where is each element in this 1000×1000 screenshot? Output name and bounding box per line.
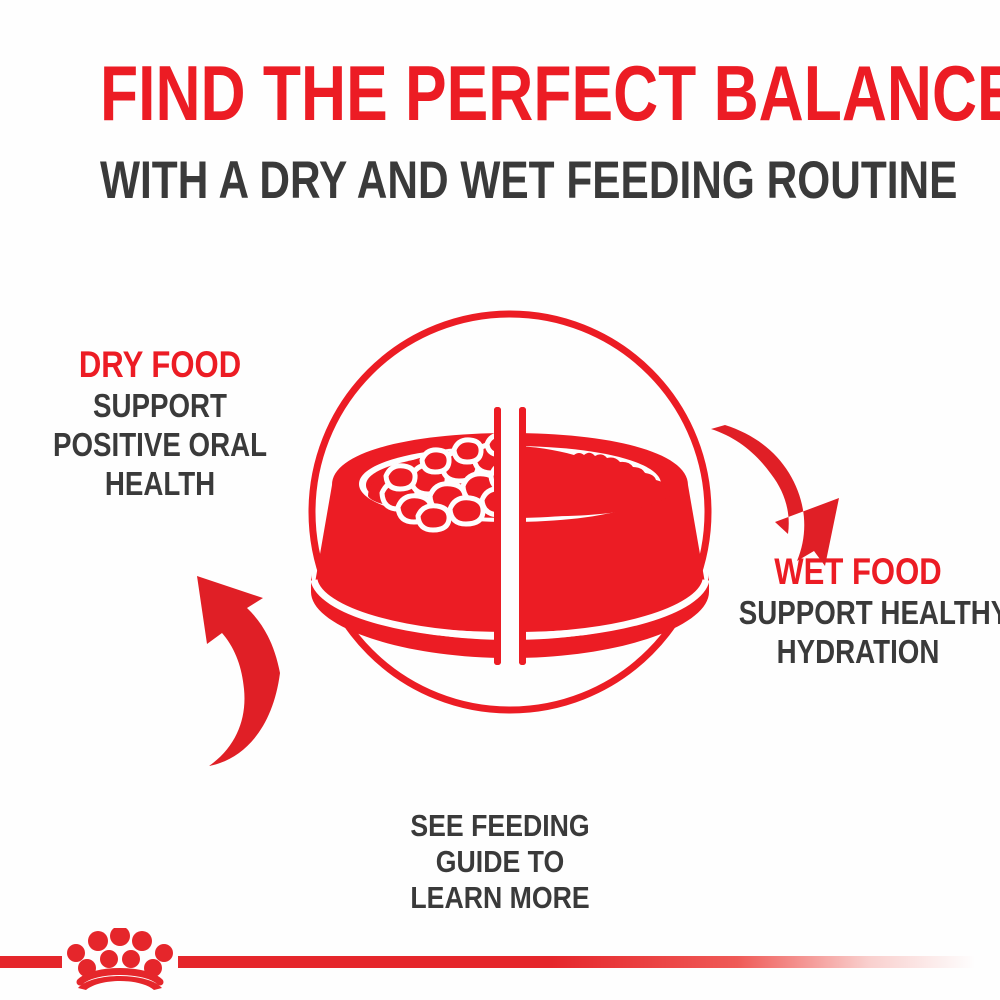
infographic-poster: FIND THE PERFECT BALANCE WITH A DRY AND … [0,0,1000,1000]
divider-gap [501,407,519,665]
royal-canin-crown-logo [62,928,178,990]
page-title: FIND THE PERFECT BALANCE [100,52,900,134]
caption-line1: SEE FEEDING [354,808,646,844]
page-subtitle: WITH A DRY AND WET FEEDING ROUTINE [100,152,900,210]
caption-line2: GUIDE TO [354,844,646,880]
curved-arrow-down-right [711,425,839,566]
footer-bar [0,914,1000,1000]
caption-line3: LEARN MORE [354,880,646,916]
footer-rule-right [178,956,1000,968]
central-illustration [130,300,890,770]
curved-arrow-up-left [197,576,280,766]
footer-caption: SEE FEEDING GUIDE TO LEARN MORE [354,808,646,916]
footer-rule-left [0,956,62,968]
